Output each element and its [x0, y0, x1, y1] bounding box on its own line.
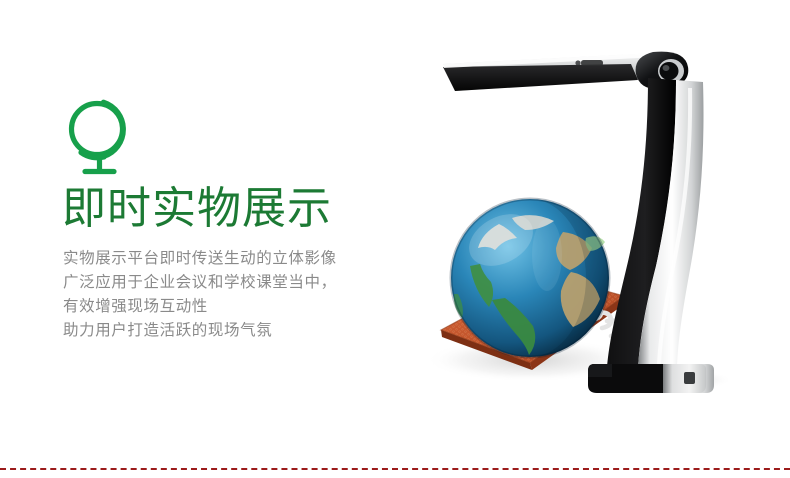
- description-line-1: 实物展示平台即时传送生动的立体影像: [63, 247, 410, 271]
- description-line-4: 助力用户打造活跃的现场气氛: [63, 319, 410, 343]
- camera-arm-underside: [443, 64, 638, 91]
- document-camera-visualizer: [395, 8, 785, 428]
- globe-stand-icon: [60, 96, 410, 178]
- description-line-2: 广泛应用于企业会议和学校课堂当中，: [63, 271, 410, 295]
- arm-indicator: [581, 60, 603, 66]
- feature-text-block: 即时实物展示 实物展示平台即时传送生动的立体影像 广泛应用于企业会议和学校课堂当…: [60, 96, 410, 343]
- page-title: 即时实物展示: [62, 186, 410, 233]
- earth-globe: [451, 199, 609, 357]
- feature-description: 实物展示平台即时传送生动的立体影像 广泛应用于企业会议和学校课堂当中， 有效增强…: [63, 247, 410, 343]
- description-line-3: 有效增强现场互动性: [63, 295, 410, 319]
- base-port: [684, 372, 695, 384]
- dashed-divider: [0, 468, 790, 470]
- promo-banner: 即时实物展示 实物展示平台即时传送生动的立体影像 广泛应用于企业会议和学校课堂当…: [0, 0, 790, 478]
